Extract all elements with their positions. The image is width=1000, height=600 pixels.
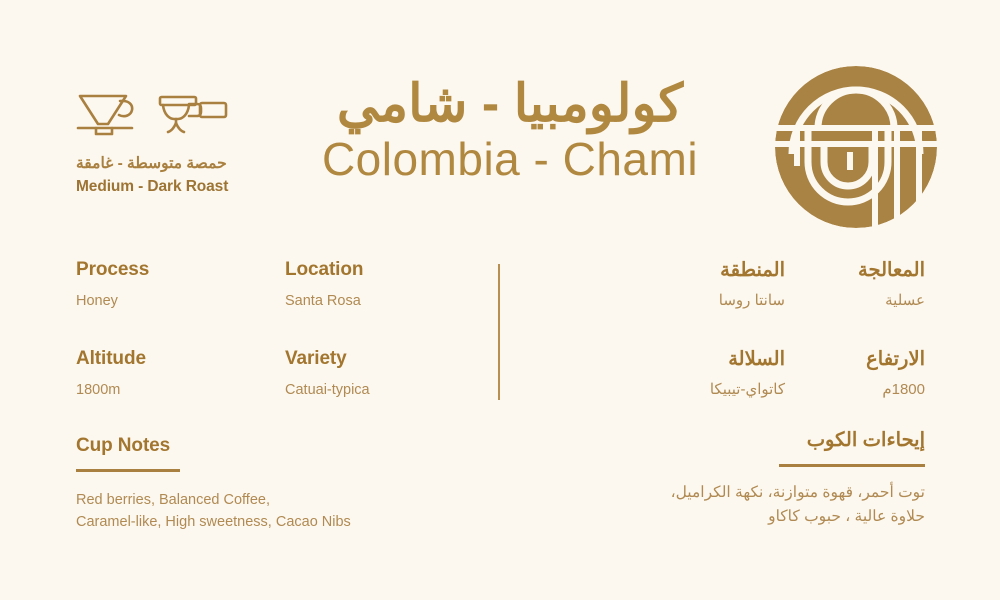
product-title: كولومبيا - شامي Colombia - Chami bbox=[300, 78, 720, 185]
spec-process-value: Honey bbox=[76, 293, 266, 310]
spec-region-arabic-value: سانتا روسا bbox=[585, 292, 785, 310]
cup-notes-arabic: إيحاءات الكوب توت أحمر، قهوة متوازنة، نك… bbox=[495, 430, 925, 528]
cup-notes-english-rule bbox=[76, 469, 180, 472]
roast-level-english: Medium - Dark Roast bbox=[76, 177, 336, 196]
spec-variety-label: Variety bbox=[285, 349, 485, 370]
spec-region-arabic-label: المنطقة bbox=[585, 260, 785, 281]
cup-notes-arabic-rule bbox=[779, 464, 925, 467]
spec-variety-arabic-label: السلالة bbox=[585, 349, 785, 370]
spec-process-label: Process bbox=[76, 260, 266, 281]
spec-variety-arabic-value: كاتواي-تيبيكا bbox=[585, 381, 785, 399]
spec-process: Process Honey bbox=[76, 260, 266, 310]
cup-notes-english-title: Cup Notes bbox=[76, 436, 506, 457]
spec-region-arabic: المنطقة سانتا روسا bbox=[585, 260, 785, 310]
roast-info-block: حمصة متوسطة - غامقة Medium - Dark Roast bbox=[76, 84, 336, 197]
pour-over-dripper-icon bbox=[76, 90, 138, 140]
spec-variety: Variety Catuai-typica bbox=[285, 349, 485, 399]
product-title-english: Colombia - Chami bbox=[300, 135, 720, 185]
cup-notes-english: Cup Notes Red berries, Balanced Coffee,C… bbox=[76, 436, 506, 534]
spec-location-label: Location bbox=[285, 260, 485, 281]
spec-variety-value: Catuai-typica bbox=[285, 382, 485, 399]
spec-location: Location Santa Rosa bbox=[285, 260, 485, 310]
product-title-arabic: كولومبيا - شامي bbox=[300, 78, 720, 131]
spec-altitude-label: Altitude bbox=[76, 349, 266, 370]
brew-method-icons bbox=[76, 84, 336, 140]
spec-altitude: Altitude 1800m bbox=[76, 349, 266, 399]
spec-variety-arabic: السلالة كاتواي-تيبيكا bbox=[585, 349, 785, 399]
cup-notes-arabic-body: توت أحمر، قهوة متوازنة، نكهة الكراميل،حل… bbox=[495, 481, 925, 528]
roast-level-arabic: حمصة متوسطة - غامقة bbox=[76, 154, 336, 173]
portafilter-icon bbox=[156, 90, 230, 140]
brand-logo-icon bbox=[775, 66, 937, 228]
spec-location-value: Santa Rosa bbox=[285, 293, 485, 310]
cup-notes-arabic-title: إيحاءات الكوب bbox=[495, 430, 925, 451]
cup-notes-english-body: Red berries, Balanced Coffee,Caramel-lik… bbox=[76, 489, 506, 534]
coffee-label-card: حمصة متوسطة - غامقة Medium - Dark Roast … bbox=[0, 0, 1000, 600]
spec-altitude-value: 1800m bbox=[76, 382, 266, 399]
center-divider bbox=[498, 264, 500, 400]
